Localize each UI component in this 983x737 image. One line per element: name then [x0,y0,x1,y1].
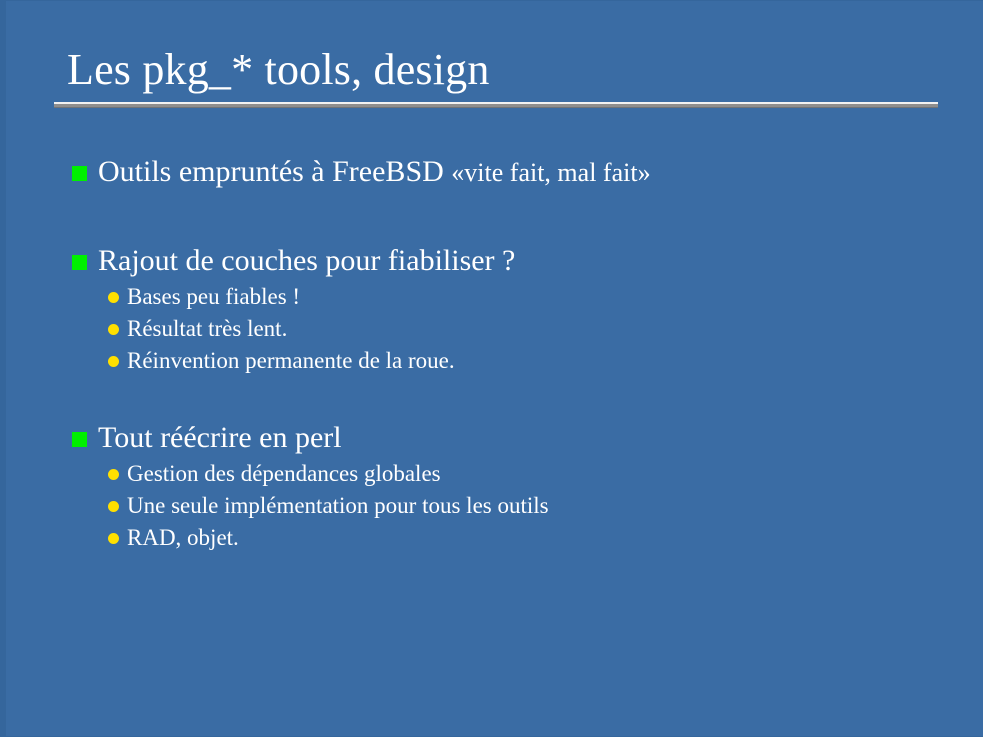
dot-bullet-icon [108,533,119,544]
list-item-label: Réinvention permanente de la roue. [127,345,455,377]
list-item-label: RAD, objet. [127,522,239,554]
list-item-label: Résultat très lent. [127,313,287,345]
dot-bullet-icon [108,469,119,480]
sub-bullet-list: Bases peu fiables ! Résultat très lent. … [72,281,959,377]
bullet-group: Rajout de couches pour fiabiliser ? Base… [72,242,959,377]
bullet-level1-label: Tout réécrire en perl [98,419,342,457]
list-item: RAD, objet. [108,522,959,554]
bullet-level1-text: Outils empruntés à FreeBSD [98,155,451,188]
dot-bullet-icon [108,356,119,367]
bullet-level1-quote: «vite fait, mal fait» [451,158,650,187]
spacer [72,377,959,419]
list-item-label: Gestion des dépendances globales [127,458,441,490]
square-bullet-icon [72,166,87,181]
list-item: Une seule implémentation pour tous les o… [108,490,959,522]
bullet-group: Tout réécrire en perl Gestion des dépend… [72,419,959,554]
square-bullet-icon [72,432,87,447]
presentation-slide: Les pkg_* tools, design Outils empruntés… [0,0,983,737]
bullet-level1-label: Rajout de couches pour fiabiliser ? [98,242,515,280]
slide-body: Outils empruntés à FreeBSD «vite fait, m… [72,153,959,554]
slide-title-block: Les pkg_* tools, design [48,43,934,108]
list-item: Bases peu fiables ! [108,281,959,313]
dot-bullet-icon [108,501,119,512]
list-item-label: Une seule implémentation pour tous les o… [127,490,549,522]
bullet-level1: Outils empruntés à FreeBSD «vite fait, m… [72,153,959,192]
dot-bullet-icon [108,292,119,303]
bullet-level1: Rajout de couches pour fiabiliser ? [72,242,959,280]
bullet-level1-label: Outils empruntés à FreeBSD «vite fait, m… [98,153,651,192]
square-bullet-icon [72,255,87,270]
list-item: Résultat très lent. [108,313,959,345]
list-item-label: Bases peu fiables ! [127,281,300,313]
bullet-group: Outils empruntés à FreeBSD «vite fait, m… [72,153,959,192]
page-title: Les pkg_* tools, design [48,43,934,97]
spacer [72,192,959,242]
bullet-level1: Tout réécrire en perl [72,419,959,457]
list-item: Réinvention permanente de la roue. [108,345,959,377]
sub-bullet-list: Gestion des dépendances globales Une seu… [72,458,959,554]
list-item: Gestion des dépendances globales [108,458,959,490]
title-underline-rule [54,102,938,108]
dot-bullet-icon [108,324,119,335]
